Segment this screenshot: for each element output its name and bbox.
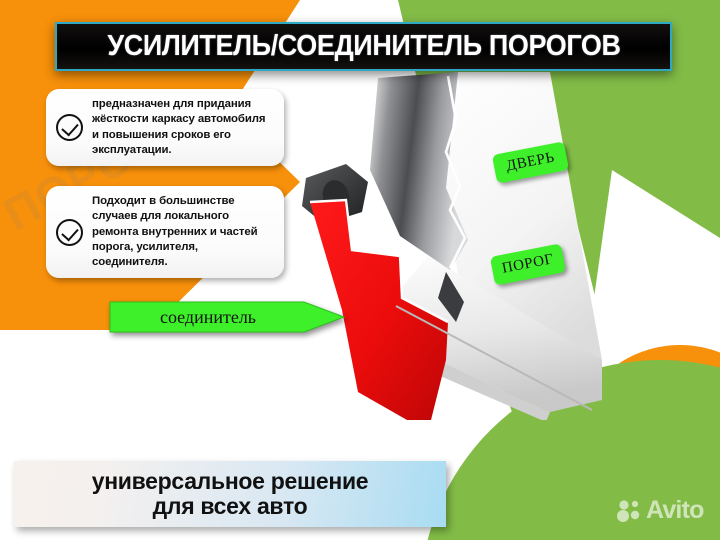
title-banner: УСИЛИТЕЛЬ/СОЕДИНИТЕЛЬ ПОРОГОВ <box>55 22 672 71</box>
avito-wordmark: Avito <box>646 496 704 525</box>
feature-card-2: Подходит в большинстве случаев для локал… <box>46 186 284 278</box>
bottom-banner: универсальное решение для всех авто <box>14 461 446 527</box>
title-text: УСИЛИТЕЛЬ/СОЕДИНИТЕЛЬ ПОРОГОВ <box>107 30 620 63</box>
bottom-banner-line1: универсальное решение <box>92 469 369 494</box>
connector-arrow-text: соединитель <box>108 298 308 336</box>
poster-canvas: ПОРОГИ <box>0 0 720 540</box>
avito-logo: Avito <box>617 496 704 525</box>
feature-card-1: предназначен для придания жёсткости карк… <box>46 89 284 166</box>
tag-door-text: ДВЕРЬ <box>505 149 556 175</box>
check-circle-icon <box>56 219 83 246</box>
tag-sill-text: ПОРОГ <box>501 251 555 278</box>
bottom-banner-line2: для всех авто <box>153 494 308 519</box>
connector-arrow-label: соединитель <box>108 298 348 336</box>
check-circle-icon <box>56 114 83 141</box>
avito-dots-icon <box>617 499 643 523</box>
feature-card-1-text: предназначен для придания жёсткости карк… <box>92 97 272 158</box>
feature-card-2-text: Подходит в большинстве случаев для локал… <box>92 194 272 270</box>
product-illustration <box>250 60 670 420</box>
